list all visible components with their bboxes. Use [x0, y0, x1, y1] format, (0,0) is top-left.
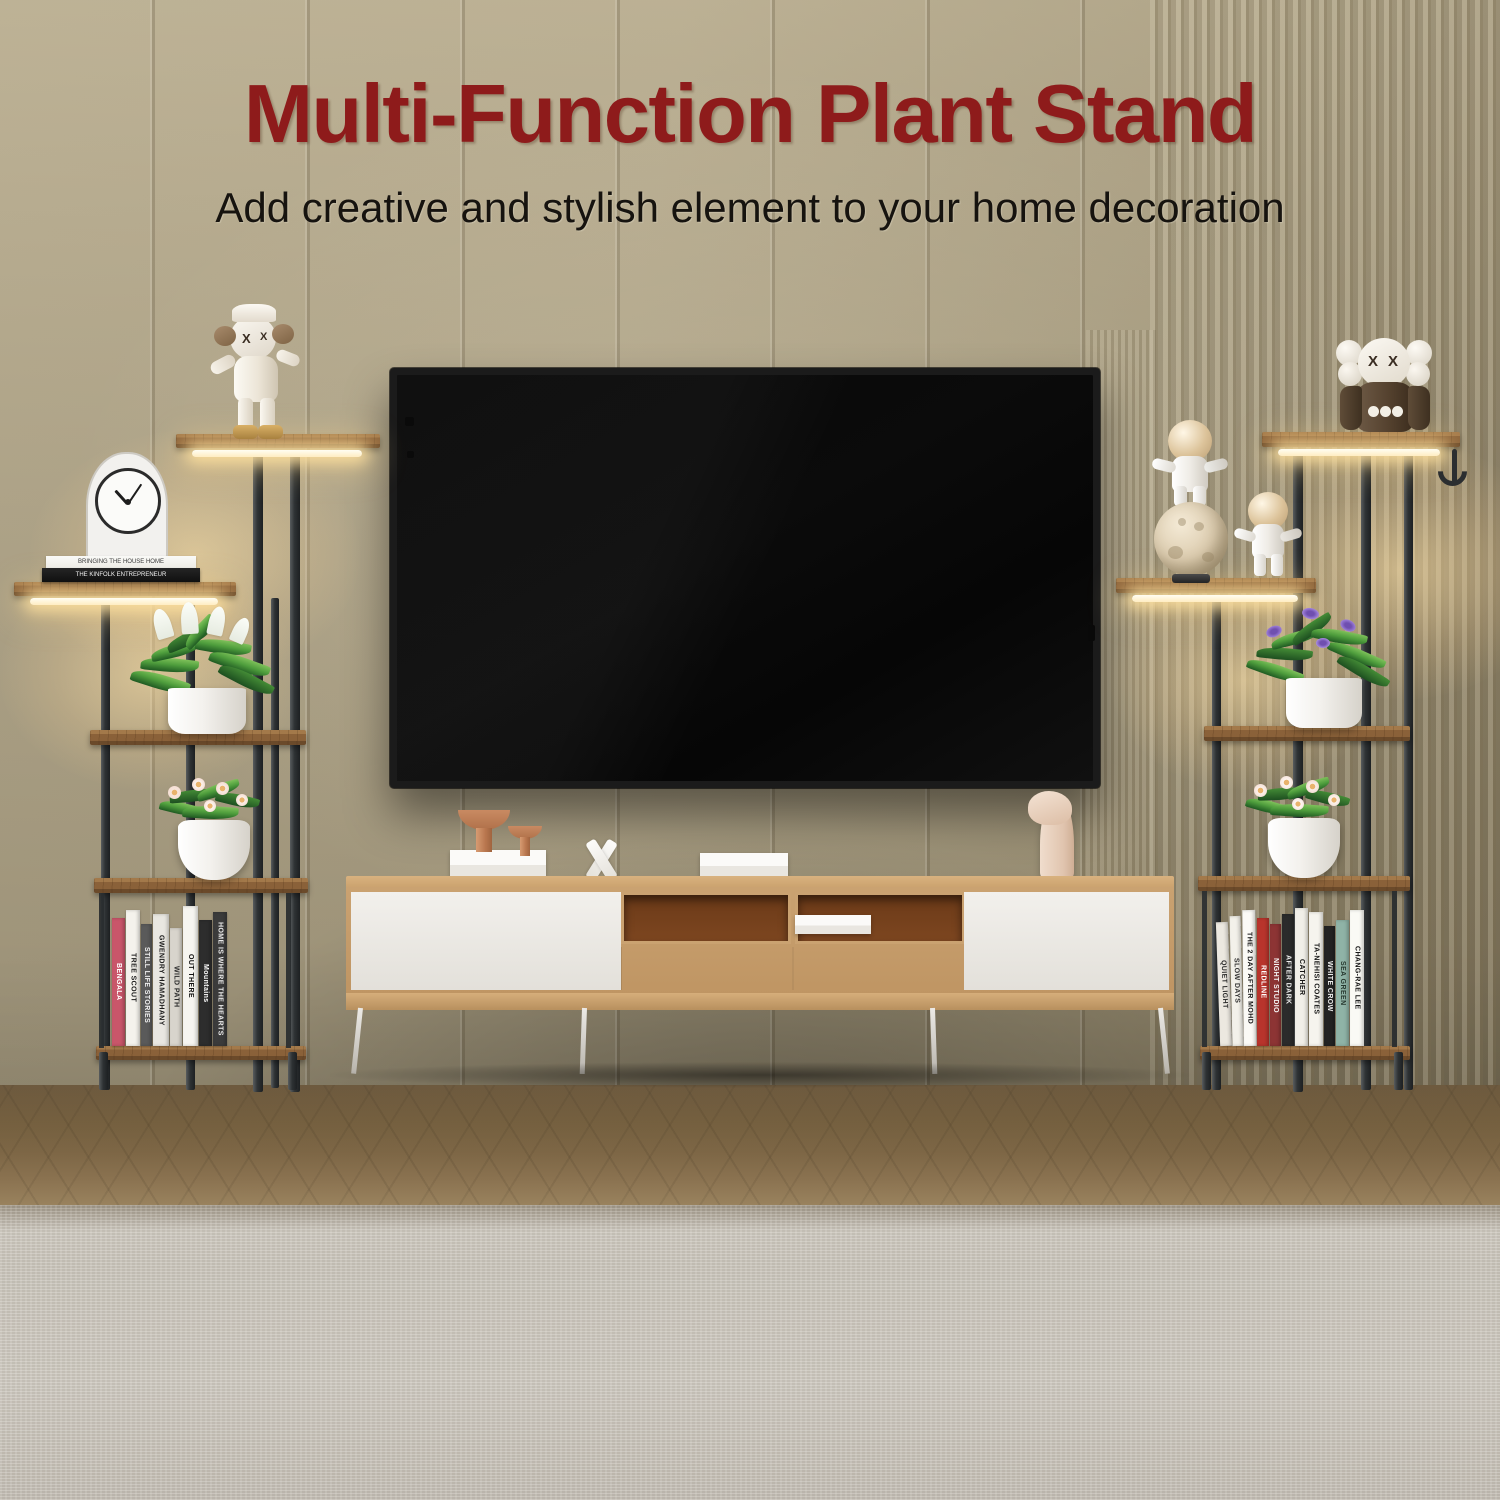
book-spine: SLOW DAYS — [1230, 916, 1244, 1046]
book-spine: GWENDRY HAMADHANY — [153, 914, 169, 1046]
product-lifestyle-image: Multi-Function Plant Stand Add creative … — [0, 0, 1500, 1500]
book-stack-kinfolk-2: THE KINFOLK ENTREPRENEUR — [42, 568, 200, 582]
book-spine: WHITE CROW — [1324, 926, 1335, 1046]
book-spine: CHANG-RAE LEE — [1350, 910, 1364, 1046]
console-floor-shadow — [330, 1062, 1190, 1088]
book-spine: BENGALA — [112, 918, 125, 1046]
left-stand-foot-a — [99, 1052, 108, 1090]
book-spine: TREE SCOUT — [126, 910, 140, 1046]
peace-lily-plant-white-pot — [132, 600, 282, 732]
floor-sheen — [0, 1085, 1500, 1210]
console-door-right — [964, 892, 1169, 990]
right-stand-side-slats-left — [1202, 891, 1216, 1047]
white-book-stack-center — [700, 853, 788, 877]
book-spine: HOME IS WHERE THE HEARTS — [213, 912, 227, 1046]
white-pot-peace-lily — [168, 688, 246, 734]
console-open-cubbies — [621, 892, 965, 990]
tv-media-console — [346, 876, 1174, 1008]
tv-screen-gloss — [397, 375, 1093, 781]
book-spine: THE 2 DAY AFTER MOHD — [1242, 910, 1256, 1046]
copper-pedestal-bowl-large — [458, 810, 510, 852]
blush-face-sculpture — [1040, 795, 1074, 879]
page-title: Multi-Function Plant Stand — [0, 66, 1500, 162]
kaws-figurine-white: X X — [206, 300, 316, 440]
console-cubby-left — [621, 892, 791, 944]
book-spine: NIGHT STUDIO — [1270, 924, 1281, 1046]
right-stand-bottom-shelf — [1200, 1046, 1410, 1060]
left-stand-bottom-shelf — [96, 1046, 306, 1060]
book-spine: STILL LIFE STORIES — [141, 924, 152, 1046]
book-spine: AFTER DARK — [1282, 914, 1294, 1046]
tv-mount-bracket-bottom — [407, 451, 414, 458]
book-spine: CATCHER — [1295, 908, 1308, 1046]
astronaut-figurine-on-moon — [1146, 420, 1238, 580]
right-stand-third-shelf — [1204, 726, 1410, 741]
white-pot-daisy-right — [1268, 818, 1340, 878]
moon-globe — [1154, 502, 1228, 576]
astronaut-figurine-small — [1232, 492, 1304, 580]
purple-flower-plant-white-pot — [1248, 596, 1398, 728]
book-spine: TA-NEHISI COATES — [1309, 912, 1323, 1046]
white-pot-daisy-left — [178, 820, 250, 880]
floor-rug — [0, 1205, 1500, 1500]
daisy-plant-white-pot-right — [1240, 760, 1366, 878]
white-x-sculpture — [578, 840, 622, 880]
tv-power-button — [1088, 625, 1095, 641]
book-spine: REDLINE — [1257, 918, 1269, 1046]
left-stand-fourth-shelf — [94, 878, 308, 893]
left-stand-top-led — [192, 450, 362, 457]
rug-weave-texture — [0, 1205, 1500, 1500]
console-body — [346, 887, 1174, 995]
daisy-plant-white-pot-left — [152, 762, 276, 880]
white-book-stack-in-cubby — [795, 915, 871, 934]
console-base-rail — [346, 993, 1174, 1010]
tv-mount-bracket-top — [405, 417, 414, 426]
table-clock — [80, 452, 176, 570]
right-stand-fourth-shelf — [1198, 876, 1410, 891]
left-stand-foot-b — [288, 1052, 297, 1090]
left-stand-book-row: BENGALATREE SCOUTSTILL LIFE STORIESGWEND… — [112, 906, 227, 1046]
left-stand-side-slats-right — [286, 893, 300, 1048]
white-pot-purple-plant — [1286, 678, 1362, 728]
book-spine: Mountains — [199, 920, 212, 1046]
book-spine: WILD PATH — [170, 928, 182, 1046]
copper-pedestal-bowl-small — [508, 826, 542, 856]
left-stand-side-slats-left — [99, 893, 113, 1048]
right-stand-second-shelf — [1116, 578, 1316, 593]
left-stand-second-shelf — [14, 582, 236, 596]
wood-floor — [0, 1085, 1500, 1210]
console-center-doors — [621, 947, 965, 990]
right-stand-book-row: QUIET LIGHTSLOW DAYSTHE 2 DAY AFTER MOHD… — [1218, 908, 1364, 1046]
console-door-left — [351, 892, 621, 990]
right-stand-top-led — [1278, 449, 1440, 456]
kaws-companion-figurine-brown: X X — [1334, 328, 1438, 440]
right-stand-hook — [1452, 449, 1457, 483]
page-subtitle: Add creative and stylish element to your… — [0, 184, 1500, 232]
wall-mounted-tv — [390, 368, 1100, 788]
book-spine: SEA GREEN — [1336, 920, 1349, 1046]
book-spine: OUT THERE — [183, 906, 198, 1046]
right-stand-foot-a — [1202, 1052, 1211, 1090]
right-stand-side-slats-right — [1392, 891, 1406, 1047]
right-stand-foot-b — [1394, 1052, 1403, 1090]
